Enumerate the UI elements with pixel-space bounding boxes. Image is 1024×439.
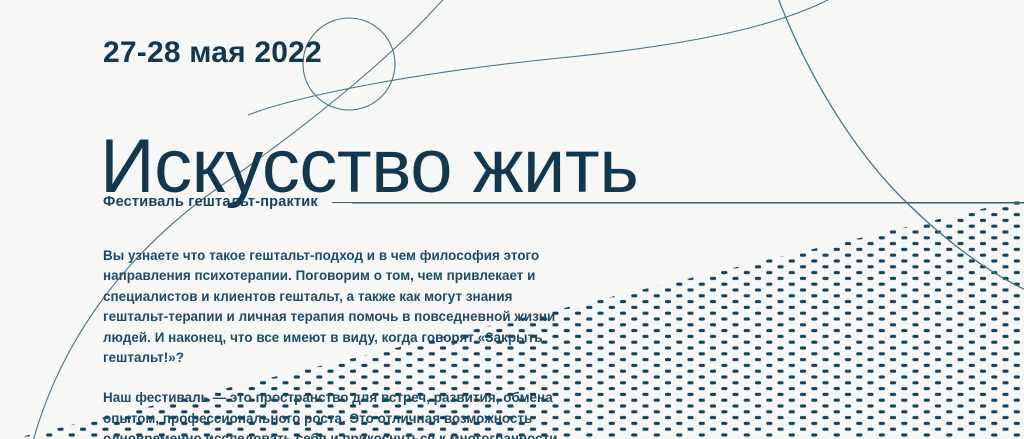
description-paragraph: Вы узнаете что такое гештальт-подход и в… bbox=[103, 246, 573, 368]
poster-canvas: 27-28 мая 2022 Искусство жить Фестиваль … bbox=[0, 0, 1024, 439]
subtitle-row: Фестиваль гештальт-практик bbox=[103, 194, 1024, 210]
poster-content: 27-28 мая 2022 Искусство жить Фестиваль … bbox=[0, 0, 1024, 439]
description-paragraph: Наш фестиваль — это пространство для вст… bbox=[103, 388, 573, 439]
horizontal-divider bbox=[332, 202, 1024, 203]
description-block: Вы узнаете что такое гештальт-подход и в… bbox=[103, 246, 573, 439]
event-date: 27-28 мая 2022 bbox=[103, 36, 322, 70]
event-subtitle: Фестиваль гештальт-практик bbox=[103, 194, 318, 210]
